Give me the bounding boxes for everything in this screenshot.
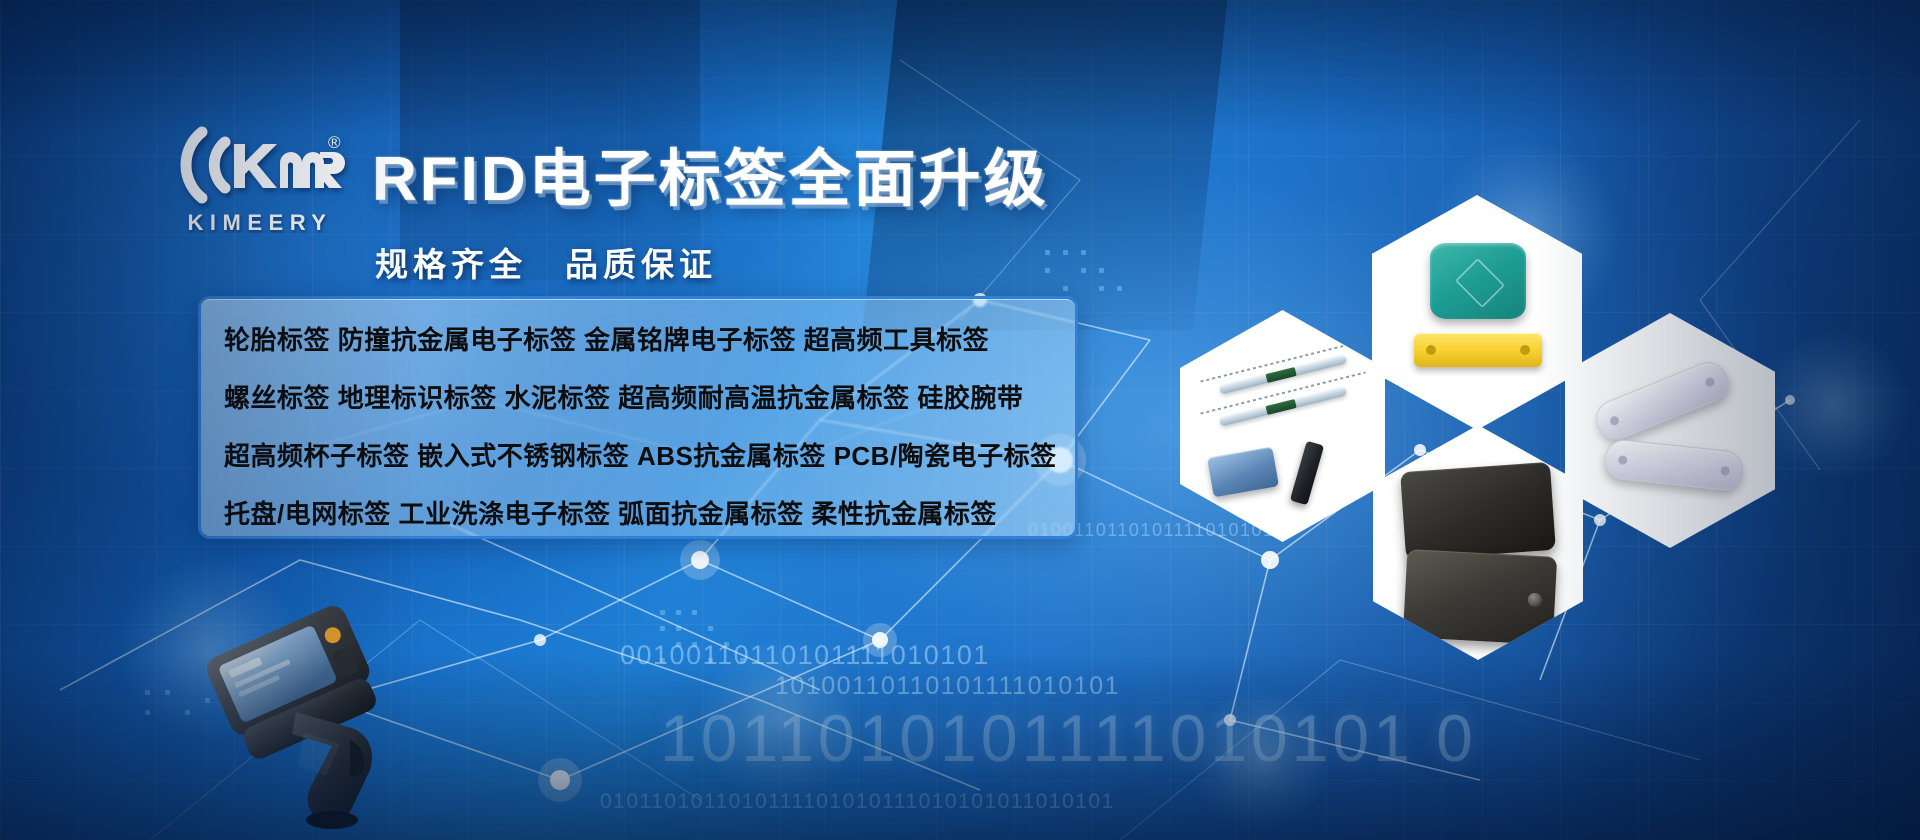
list-item: 轮胎标签 防撞抗金属电子标签 金属铭牌电子标签 超高频工具标签 bbox=[201, 311, 1075, 369]
product-category-list: 轮胎标签 防撞抗金属电子标签 金属铭牌电子标签 超高频工具标签 螺丝标签 地理标… bbox=[198, 296, 1078, 539]
teal-disc-tag bbox=[1430, 243, 1526, 319]
flexible-white-tag bbox=[1603, 438, 1744, 492]
flexible-white-tag bbox=[1591, 357, 1734, 446]
product-hex-cell-4[interactable] bbox=[1565, 313, 1775, 548]
binary-watermark-b: 10100110110101111010101 bbox=[775, 672, 1120, 701]
yellow-strip-tag bbox=[1414, 333, 1542, 367]
binary-watermark-a: 00100110110101111010101 bbox=[620, 640, 990, 671]
svg-text:®: ® bbox=[328, 133, 341, 152]
subtitle-left: 规格齐全 bbox=[375, 246, 527, 283]
dark-bar-tag bbox=[1290, 441, 1324, 506]
binary-watermark-d: 0101101011010111101010111010101011010101 bbox=[600, 790, 1115, 814]
product-hex-cell-2[interactable] bbox=[1180, 310, 1385, 542]
brand-logo[interactable]: ® KIMEERY bbox=[168, 122, 348, 236]
product-hex-cell-1[interactable] bbox=[1372, 195, 1582, 430]
abs-anti-metal-tag bbox=[1400, 462, 1556, 560]
binary-watermark-large: 1011010101111010101 0 bbox=[660, 700, 1477, 776]
kimeery-signal-mark-icon: ® bbox=[168, 122, 348, 208]
product-showcase bbox=[1180, 195, 1920, 665]
list-item: 托盘/电网标签 工业洗涤电子标签 弧面抗金属标签 柔性抗金属标签 bbox=[201, 485, 1075, 543]
list-item: 螺丝标签 地理标识标签 水泥标签 超高频耐高温抗金属标签 硅胶腕带 bbox=[201, 369, 1075, 427]
handheld-rfid-reader bbox=[200, 600, 440, 830]
brand-wordmark: KIMEERY bbox=[168, 210, 348, 236]
abs-anti-metal-tag bbox=[1403, 549, 1557, 645]
blue-device-tag bbox=[1207, 447, 1279, 498]
page-title: RFID电子标签全面升级 bbox=[372, 128, 1049, 218]
product-hex-cell-3[interactable] bbox=[1373, 425, 1583, 660]
subtitle: 规格齐全品质保证 bbox=[375, 238, 717, 286]
rfid-promo-banner: 1011010101111010101 0 001001101101011110… bbox=[0, 0, 1920, 840]
list-item: 超高频杯子标签 嵌入式不锈钢标签 ABS抗金属标签 PCB/陶瓷电子标签 bbox=[201, 427, 1075, 485]
subtitle-right: 品质保证 bbox=[565, 246, 717, 283]
